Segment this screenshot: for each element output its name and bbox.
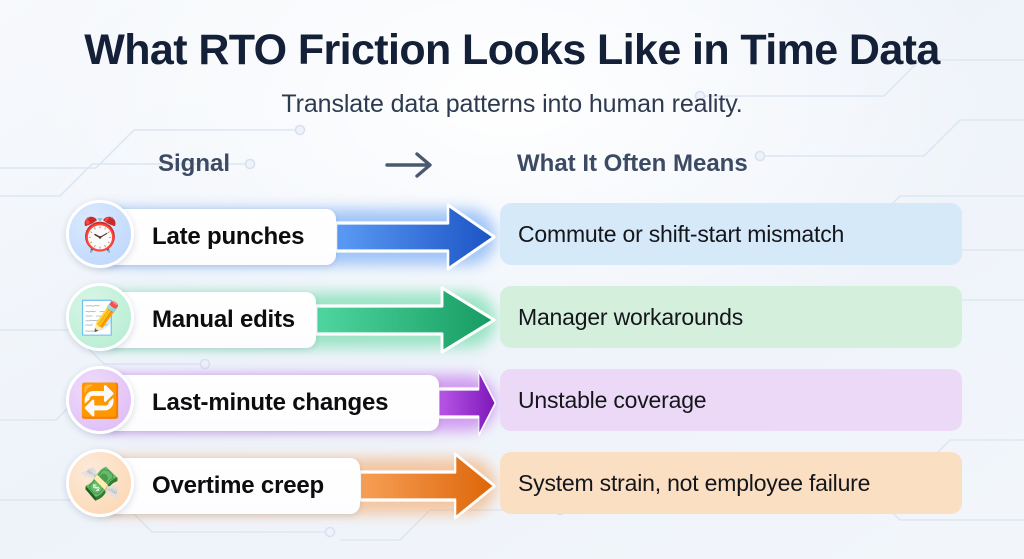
signal-label: Overtime creep	[104, 472, 338, 500]
flow-arrow	[316, 284, 496, 356]
outcome-label: System strain, not employee failure	[500, 470, 870, 497]
flow-arrow	[360, 450, 496, 522]
outcome-label: Manager workarounds	[500, 304, 743, 331]
signal-label: Manual edits	[104, 306, 309, 334]
infographic-canvas: What RTO Friction Looks Like in Time Dat…	[0, 0, 1024, 559]
alarm-clock-glyph: ⏰	[79, 218, 120, 251]
outcome-panel: Commute or shift-start mismatch	[500, 203, 962, 265]
repeat-sync-icon: 🔁	[66, 366, 134, 434]
money-with-wings-glyph: 💸	[79, 467, 120, 500]
memo-clipboard-glyph: 📝	[79, 301, 120, 334]
flow-arrow	[439, 367, 496, 439]
right-arrow-icon	[383, 150, 437, 180]
page-title: What RTO Friction Looks Like in Time Dat…	[0, 26, 1024, 75]
outcome-label: Commute or shift-start mismatch	[500, 221, 844, 248]
signal-pill: Overtime creep	[104, 458, 360, 514]
outcome-panel: Manager workarounds	[500, 286, 962, 348]
signal-label: Last-minute changes	[104, 389, 402, 417]
memo-clipboard-icon: 📝	[66, 283, 134, 351]
outcome-label: Unstable coverage	[500, 387, 706, 414]
outcome-panel: Unstable coverage	[500, 369, 962, 431]
signal-pill: Last-minute changes	[104, 375, 439, 431]
signal-pill: Late punches	[104, 209, 336, 265]
alarm-clock-icon: ⏰	[66, 200, 134, 268]
money-with-wings-icon: 💸	[66, 449, 134, 517]
outcome-panel: System strain, not employee failure	[500, 452, 962, 514]
repeat-sync-glyph: 🔁	[79, 384, 120, 417]
flow-arrow	[336, 201, 496, 273]
column-header-means: What It Often Means	[517, 150, 748, 178]
page-subtitle: Translate data patterns into human reali…	[0, 90, 1024, 119]
column-header-signal: Signal	[158, 150, 230, 178]
signal-label: Late punches	[104, 223, 318, 251]
signal-pill: Manual edits	[104, 292, 316, 348]
